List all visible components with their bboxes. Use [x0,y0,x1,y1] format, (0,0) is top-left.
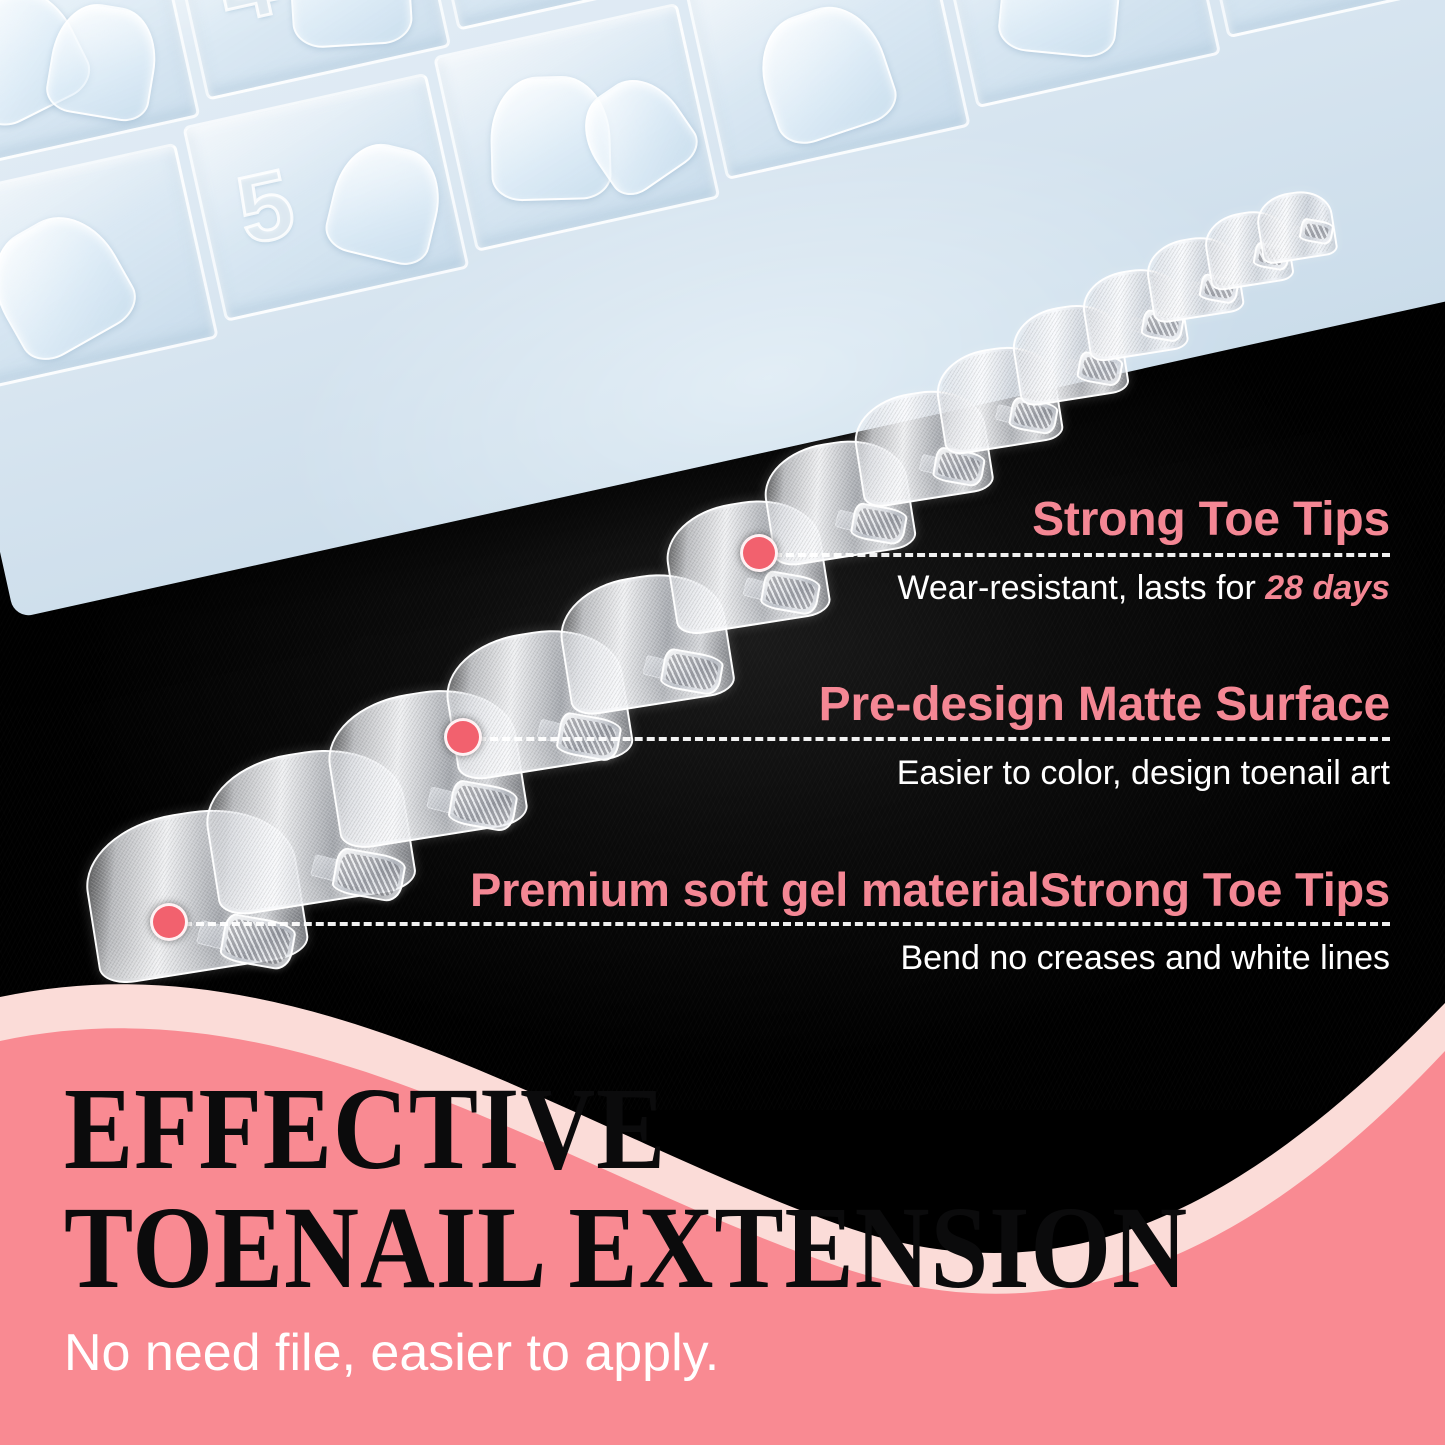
box-compartment [1185,0,1445,38]
nail-tip-chip [321,135,451,271]
feature-premium-soft-gel: Premium soft gel materialStrong Toe Tips… [470,866,1390,977]
compartment-size-number: 4 [209,0,287,46]
banner-text-block: EFFECTIVE TOENAIL EXTENSION No need file… [0,975,1445,1445]
nail-tip-chip [1245,0,1399,3]
nail-tip-chip [746,0,904,152]
nail-tip-chip [996,0,1125,60]
banner-title-line-2: TOENAIL EXTENSION [64,1194,1188,1303]
feature-pre-design-matte-surface: Pre-design Matte Surface Easier to color… [819,680,1390,792]
feature-subtext-emphasis: 28 days [1265,569,1390,607]
nail-tip-chip [457,0,615,2]
feature-headline: Strong Toe Tips [897,495,1390,545]
feature-headline: Premium soft gel materialStrong Toe Tips [470,866,1390,915]
callout-marker-dot [740,534,778,572]
banner-title-line-1: EFFECTIVE [64,1063,666,1194]
feature-strong-toe-tips: Strong Toe Tips Wear-resistant, lasts fo… [897,495,1390,607]
product-marketing-image: 4 8 1 [0,0,1445,1445]
banner-title: EFFECTIVE TOENAIL EXTENSION [64,1075,1188,1302]
box-compartment [683,0,970,180]
box-compartment: 5 [182,73,469,322]
compartment-size-number: 5 [228,148,306,267]
callout-marker-dot [150,903,188,941]
box-compartment [433,3,720,252]
feature-subtext: Bend no creases and white lines [470,939,1390,977]
feature-subtext-main: Bend no creases and white lines [900,939,1390,977]
nail-tip-chip [286,0,413,50]
feature-subtext: Easier to color, design toenail art [819,754,1390,792]
box-compartment [934,0,1221,108]
feature-subtext-main: Wear-resistant, lasts for [897,569,1265,607]
feature-headline: Pre-design Matte Surface [819,680,1390,730]
feature-subtext-main: Easier to color, design toenail art [897,754,1390,792]
feature-subtext: Wear-resistant, lasts for 28 days [897,569,1390,607]
nail-tip-chip [0,197,146,370]
callout-marker-dot [444,718,482,756]
box-compartment [0,143,219,392]
banner-tagline: No need file, easier to apply. [64,1323,719,1383]
